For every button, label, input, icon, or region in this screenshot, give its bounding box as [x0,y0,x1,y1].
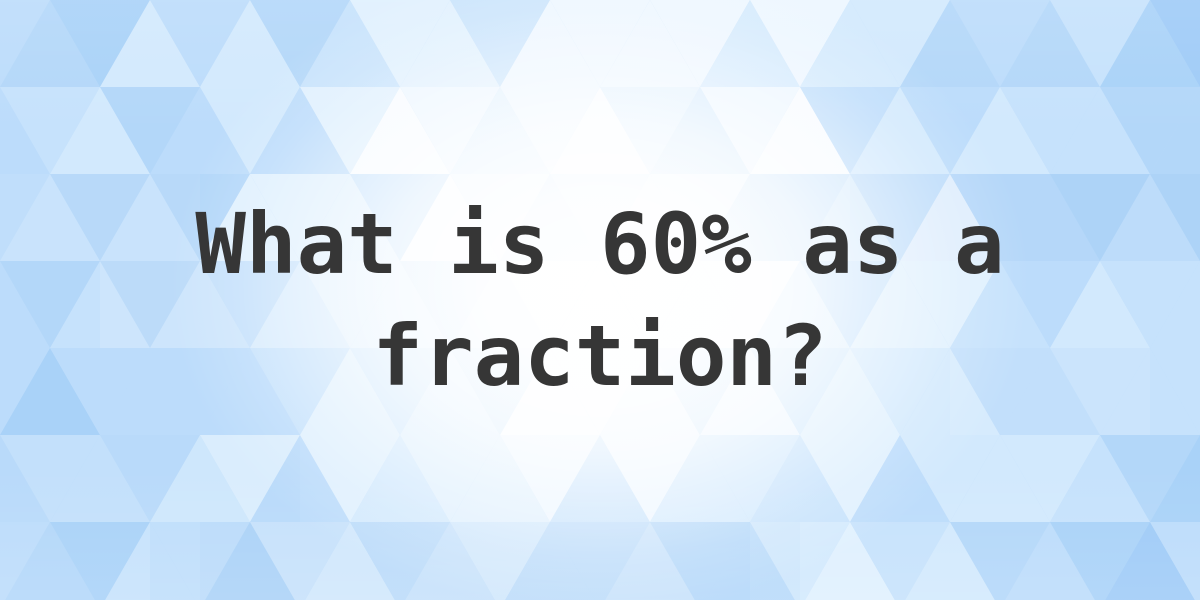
background-band [0,174,200,261]
page-canvas: What is 60% as a fraction? [0,0,1200,600]
background-band [200,522,800,600]
background-band [100,261,700,348]
low-poly-background-pattern [0,0,1200,600]
background-band [850,174,1200,261]
background-band [950,348,1150,435]
background-band [0,435,300,522]
